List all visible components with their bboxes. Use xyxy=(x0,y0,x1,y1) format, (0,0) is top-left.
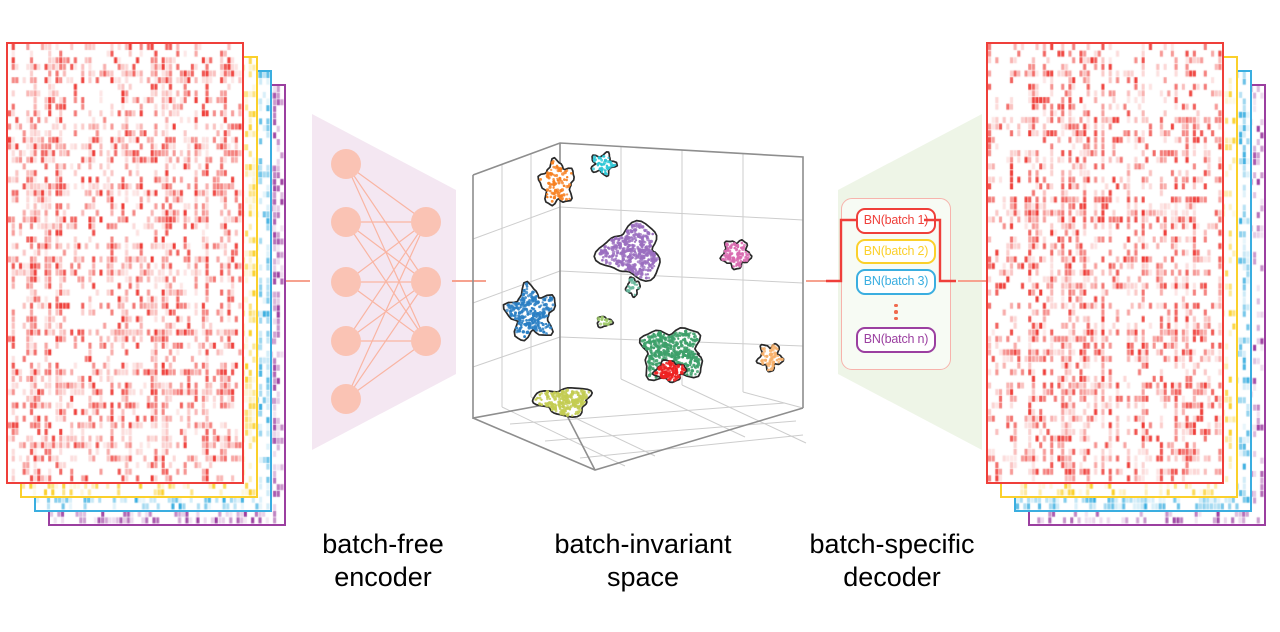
cluster-orange xyxy=(538,158,574,206)
caption-latent-line2: space xyxy=(528,561,758,594)
batch-invariant-space-plot xyxy=(455,125,820,480)
output-matrix-stack xyxy=(986,42,1266,526)
caption-decoder-line1: batch-specific xyxy=(786,528,998,561)
caption-encoder: batch-free encoder xyxy=(280,528,486,594)
encoder-hidden-node xyxy=(411,207,441,237)
expression-matrix-red xyxy=(986,42,1224,484)
cluster-layer xyxy=(504,152,784,417)
bn-chip-batch-n[interactable]: BN(batch n) xyxy=(856,327,937,353)
encoder-input-node xyxy=(331,384,361,414)
caption-encoder-line1: batch-free xyxy=(280,528,486,561)
cluster-blue xyxy=(504,282,556,341)
cluster-cyan xyxy=(591,152,617,177)
encoder-hidden-node xyxy=(411,267,441,297)
cluster-pink xyxy=(720,240,752,270)
cluster-teal-small xyxy=(626,277,641,297)
bn-bracket-wiring xyxy=(818,200,964,310)
figure-canvas: BN(batch 1) BN(batch 2) BN(batch 3) BN(b… xyxy=(0,0,1280,632)
cluster-purple xyxy=(594,221,660,282)
cluster-olive xyxy=(533,388,593,417)
encoder-panel xyxy=(308,112,468,452)
expression-matrix-red xyxy=(6,42,244,484)
encoder-input-node xyxy=(331,267,361,297)
cluster-light-orange xyxy=(756,344,783,372)
encoder-hidden-node xyxy=(411,326,441,356)
cluster-outline xyxy=(756,344,783,372)
encoder-input-node xyxy=(331,149,361,179)
input-matrix-stack xyxy=(6,42,286,526)
encoder-input-node xyxy=(331,207,361,237)
caption-decoder-line2: decoder xyxy=(786,561,998,594)
caption-latent: batch-invariant space xyxy=(528,528,758,594)
caption-encoder-line2: encoder xyxy=(280,561,486,594)
encoder-input-node xyxy=(331,326,361,356)
caption-decoder: batch-specific decoder xyxy=(786,528,998,594)
caption-latent-line1: batch-invariant xyxy=(528,528,758,561)
cluster-green-small xyxy=(597,316,614,328)
